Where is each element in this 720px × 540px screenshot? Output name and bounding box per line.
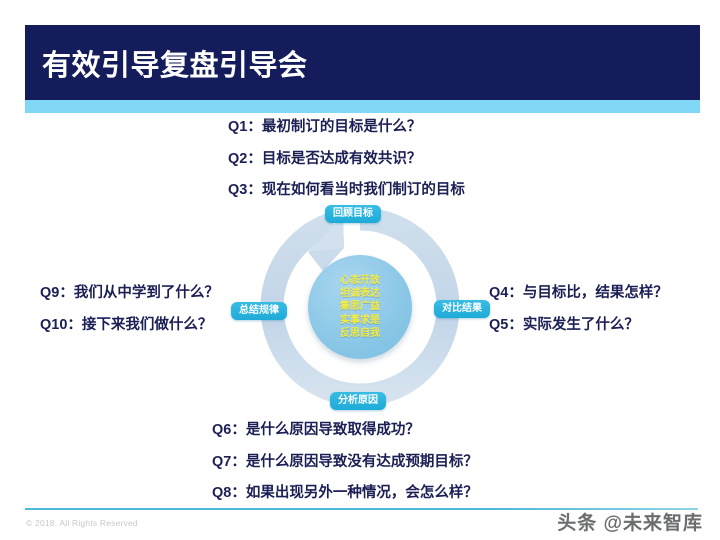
- question-item: Q5：实际发生了什么？: [489, 318, 668, 333]
- question-group-top: Q1：最初制订的目标是什么？ Q2：目标是否达成有效共识？ Q3：现在如何看当时…: [228, 120, 465, 198]
- question-group-left: Q9：我们从中学到了什么？ Q10：接下来我们做什么？: [40, 286, 219, 332]
- core-principle: 坦诚表达: [340, 287, 380, 300]
- stage-chip-summarize-rule[interactable]: 总结规律: [231, 302, 287, 320]
- question-item: Q8：如果出现另外一种情况，会怎么样？: [212, 486, 478, 501]
- question-group-bottom: Q6：是什么原因导致取得成功？ Q7：是什么原因导致没有达成预期目标？ Q8：如…: [212, 423, 478, 501]
- core-circle: 心态开放 坦诚表达 集思广益 实事求是 反思自我: [308, 255, 412, 359]
- question-item: Q4：与目标比，结果怎样？: [489, 286, 668, 301]
- page-title: 有效引导复盘引导会: [42, 42, 308, 84]
- question-item: Q10：接下来我们做什么？: [40, 318, 219, 333]
- question-item: Q7：是什么原因导致没有达成预期目标？: [212, 455, 478, 470]
- question-item: Q2：目标是否达成有效共识？: [228, 152, 465, 167]
- question-item: Q1：最初制订的目标是什么？: [228, 120, 465, 135]
- footer-copyright: © 2018. All Rights Reserved: [26, 518, 138, 528]
- question-group-right: Q4：与目标比，结果怎样？ Q5：实际发生了什么？: [489, 286, 668, 332]
- title-accent-bar: [25, 100, 700, 113]
- stage-chip-review-goal[interactable]: 回顾目标: [325, 205, 381, 223]
- question-item: Q6：是什么原因导致取得成功？: [212, 423, 478, 438]
- core-principle: 实事求是: [340, 314, 380, 327]
- question-item: Q3：现在如何看当时我们制订的目标: [228, 183, 465, 198]
- core-principle: 心态开放: [340, 274, 380, 287]
- watermark-label: 头条 @未来智库: [557, 508, 703, 535]
- title-bar: 有效引导复盘引导会: [25, 25, 700, 100]
- core-principle: 反思自我: [340, 327, 380, 340]
- question-item: Q9：我们从中学到了什么？: [40, 286, 219, 301]
- slide-canvas: 有效引导复盘引导会 Q1：最初制订的目标是什么？ Q2：目标是否达成有效共识？ …: [0, 0, 720, 540]
- stage-chip-analyze-cause[interactable]: 分析原因: [330, 392, 386, 410]
- core-principle: 集思广益: [340, 300, 380, 313]
- stage-chip-compare-result[interactable]: 对比结果: [434, 300, 490, 318]
